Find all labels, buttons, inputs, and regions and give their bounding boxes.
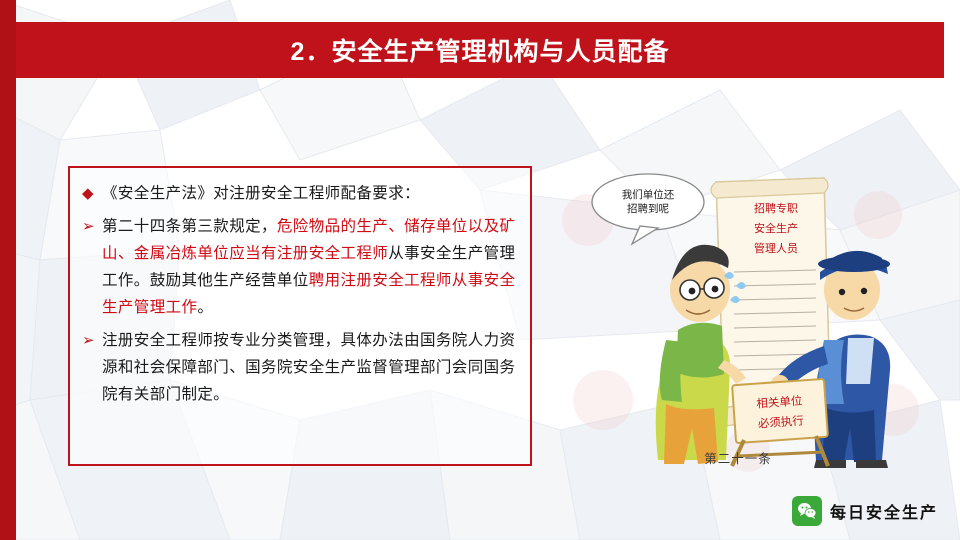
bullet-1-segment-1: 《安全生产法》对注册安全工程师配备要求： (102, 185, 420, 202)
wechat-footer: 每日安全生产 (792, 496, 938, 526)
wechat-icon (792, 496, 822, 526)
svg-text:管理人员: 管理人员 (754, 241, 798, 255)
bullet-item-3: ➢ 注册安全工程师按专业分类管理，具体办法由国务院人力资源和社会保障部门、国务院… (82, 327, 516, 408)
bullet-3-segment-1: 注册安全工程师按专业分类管理，具体办法由国务院人力资源和社会保障部门、国务院安全… (102, 332, 515, 403)
svg-text:招聘专职: 招聘专职 (754, 201, 798, 215)
slide-title-banner: 2．安全生产管理机构与人员配备 (16, 22, 944, 78)
diamond-bullet-icon: ◆ (82, 180, 102, 207)
svg-text:招聘到呢: 招聘到呢 (627, 202, 669, 215)
wechat-label: 每日安全生产 (830, 499, 938, 523)
bullet-2-segment-5: 。 (197, 299, 213, 316)
arrow-bullet-icon: ➢ (82, 213, 102, 240)
illustration: 我们单位还 招聘到呢 招聘专职 安全生产 管理人员 (548, 160, 928, 476)
bullet-2-segment-1: 第二十四条第三款规定， (102, 218, 277, 235)
wechat-glyph (797, 502, 817, 520)
bullet-item-2: ➢ 第二十四条第三款规定，危险物品的生产、储存单位以及矿山、金属冶炼单位应当有注… (82, 213, 516, 321)
page-title: 2．安全生产管理机构与人员配备 (291, 32, 670, 68)
illustration-caption: 第二十一条 (548, 448, 928, 467)
content-box: ◆ 《安全生产法》对注册安全工程师配备要求： ➢ 第二十四条第三款规定，危险物品… (68, 166, 532, 466)
slide-root: 2．安全生产管理机构与人员配备 ◆ 《安全生产法》对注册安全工程师配备要求： ➢… (0, 0, 960, 540)
arrow-bullet-icon-2: ➢ (82, 327, 102, 354)
bullet-text-2: 第二十四条第三款规定，危险物品的生产、储存单位以及矿山、金属冶炼单位应当有注册安… (102, 213, 516, 321)
svg-text:安全生产: 安全生产 (754, 221, 798, 235)
cartoon-illustration: 我们单位还 招聘到呢 招聘专职 安全生产 管理人员 (548, 160, 928, 476)
left-accent-bar (0, 0, 16, 540)
bullet-text-1: 《安全生产法》对注册安全工程师配备要求： (102, 180, 516, 207)
bullet-item-1: ◆ 《安全生产法》对注册安全工程师配备要求： (82, 180, 516, 207)
svg-text:我们单位还: 我们单位还 (622, 188, 675, 201)
bullet-text-3: 注册安全工程师按专业分类管理，具体办法由国务院人力资源和社会保障部门、国务院安全… (102, 327, 516, 408)
